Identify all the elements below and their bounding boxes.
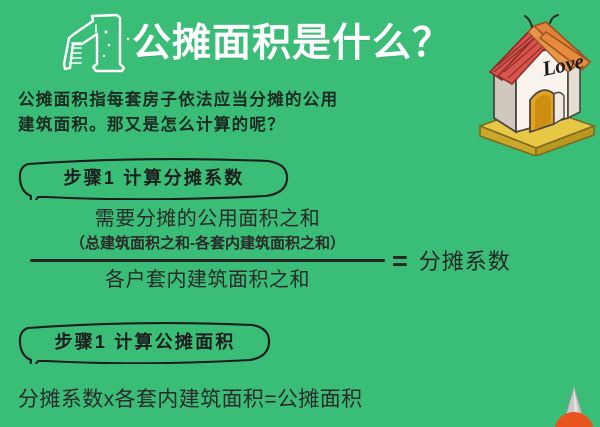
number-one-icon xyxy=(62,12,134,74)
equals-sign: = xyxy=(392,248,408,275)
equals-group: = 分摊系数 xyxy=(392,248,511,275)
page-title: 公摊面积是什么？ xyxy=(132,18,452,70)
formula-result: 分摊系数 xyxy=(419,248,511,275)
mascot-character xyxy=(548,386,600,427)
house-illustration: Love xyxy=(472,14,600,156)
subtitle-line-2: 建筑面积。那又是怎么计算的呢？ xyxy=(18,113,348,138)
fraction-bar xyxy=(30,259,385,262)
step2-formula: 分摊系数x各套内建筑面积=公摊面积 xyxy=(18,386,363,414)
fraction-numerator-main: 需要分摊的公用面积之和 xyxy=(30,206,385,233)
step1-formula: 需要分摊的公用面积之和 （总建筑面积之和-各套内建筑面积之和） 各户套内建筑面积… xyxy=(30,206,570,311)
subtitle-line-1: 公摊面积指每套房子依法应当分摊的公用 xyxy=(18,88,348,113)
step2-bubble-label: 步骤1 计算公摊面积 xyxy=(16,322,274,364)
step2-bubble: 步骤1 计算公摊面积 xyxy=(16,322,274,364)
subtitle: 公摊面积指每套房子依法应当分摊的公用 建筑面积。那又是怎么计算的呢？ xyxy=(18,88,348,138)
infographic-poster: 公摊面积是什么？ 公摊面积指每套房子依法应当分摊的公用 建筑面积。那又是怎么计算… xyxy=(0,0,600,427)
step1-bubble: 步骤1 计算分摊系数 xyxy=(16,158,292,200)
fraction-denominator: 各户套内建筑面积之和 xyxy=(30,265,385,295)
fraction: 需要分摊的公用面积之和 （总建筑面积之和-各套内建筑面积之和） 各户套内建筑面积… xyxy=(30,206,385,295)
fraction-numerator-sub: （总建筑面积之和-各套内建筑面积之和） xyxy=(30,233,385,255)
step1-bubble-label: 步骤1 计算分摊系数 xyxy=(16,158,292,200)
